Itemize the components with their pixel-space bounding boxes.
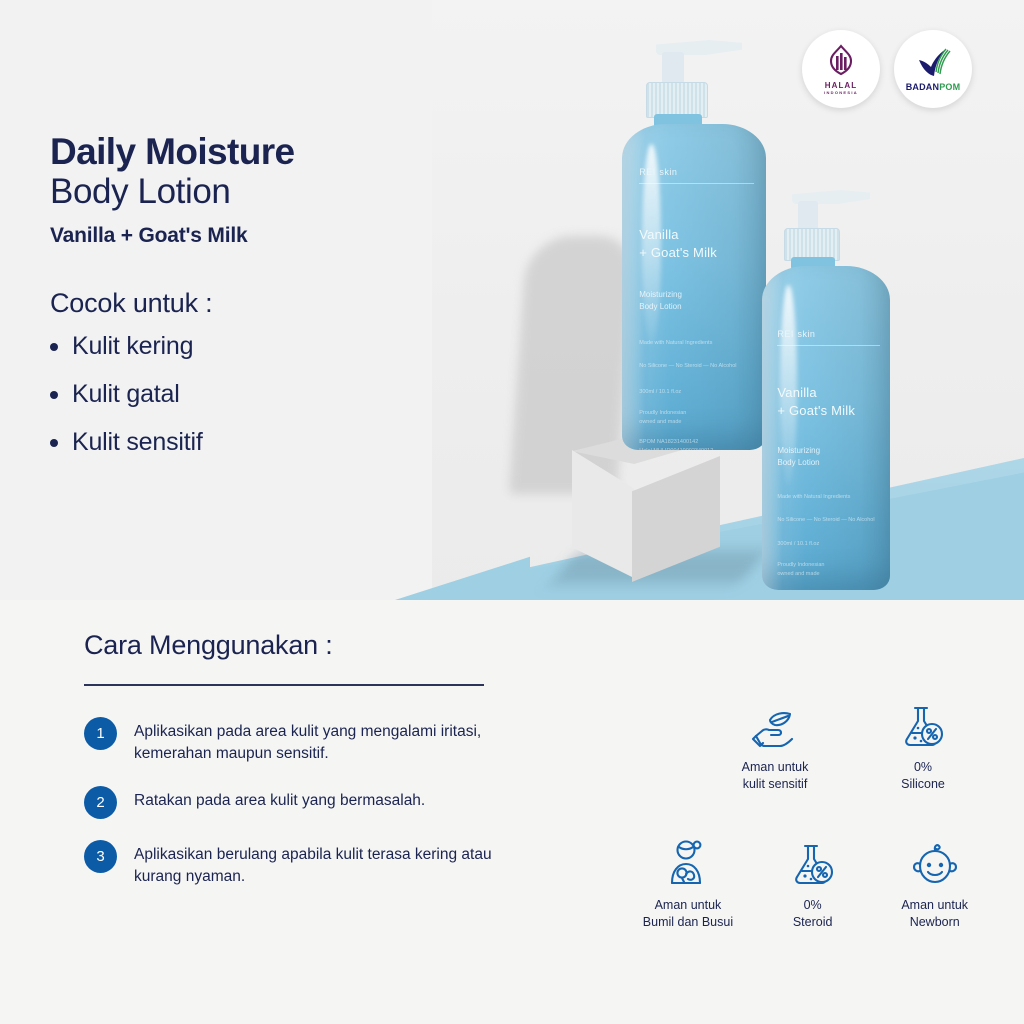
bottle-body-small: REI skin Vanilla + Goat's Milk Moisturiz… <box>762 266 890 590</box>
bottle-descriptor-small: Moisturizing Body Lotion <box>777 445 879 469</box>
feature-label: Aman untuk Bumil dan Busui <box>643 897 733 930</box>
claim2-text: No Silicone — No Steroid — No Alcohol <box>639 362 754 371</box>
bullet-dot-icon <box>50 439 58 447</box>
list-item: Kulit sensitif <box>50 428 470 457</box>
feature-zero-silicone: 0% Silicone <box>868 696 978 792</box>
list-item: 2 Ratakan pada area kulit yang bermasala… <box>84 786 504 819</box>
step-number-badge: 2 <box>84 786 117 819</box>
volume-text-small: 300ml / 10.1 fl.oz <box>777 540 879 549</box>
feature-row-2: Aman untuk Bumil dan Busui <box>600 834 1000 930</box>
product-variant: Vanilla + Goat's Milk <box>50 224 470 248</box>
feature-label: 0% Silicone <box>901 759 945 792</box>
feature-safe-newborn: Aman untuk Newborn <box>869 834 1000 930</box>
certification-badges: HALAL INDONESIA BADANPOM <box>802 30 972 108</box>
pedestal-front-face <box>572 450 634 578</box>
suitable-for-list: Kulit kering Kulit gatal Kulit sensitif <box>50 332 470 457</box>
descriptor-line-1-small: Moisturizing <box>777 445 879 457</box>
step-number-badge: 1 <box>84 717 117 750</box>
bottle-brand-large: REI skin <box>639 166 754 178</box>
hero-copy: Daily Moisture Body Lotion Vanilla + Goa… <box>50 132 470 476</box>
bottle-brand-name-small: REI <box>777 329 794 339</box>
step-text: Aplikasikan berulang apabila kulit teras… <box>134 840 504 888</box>
steps-list: 1 Aplikasikan pada area kulit yang menga… <box>84 717 504 888</box>
list-item: Kulit kering <box>50 332 470 361</box>
section-divider <box>84 684 484 686</box>
legal-line-2: Halal MUI ID00410002340012 <box>639 447 754 450</box>
descriptor-line-2: Body Lotion <box>639 301 754 313</box>
variant-line-2-small: + Goat's Milk <box>777 402 879 420</box>
product-title-line2: Body Lotion <box>50 172 470 211</box>
product-bottle-large: REI skin Vanilla + Goat's Milk Moisturiz… <box>622 40 766 450</box>
label-hairline <box>639 183 754 184</box>
how-to-use-block: Cara Menggunakan : 1 Aplikasikan pada ar… <box>84 630 504 909</box>
badan-pom-line1: BADAN <box>906 82 940 92</box>
bottle-volume-large: 300ml / 10.1 fl.oz <box>639 388 754 397</box>
bottle-claim2-small: No Silicone — No Steroid — No Alcohol <box>777 516 879 525</box>
step-number-badge: 3 <box>84 840 117 873</box>
instructions-section: Cara Menggunakan : 1 Aplikasikan pada ar… <box>0 600 1024 1024</box>
suitable-item-label: Kulit gatal <box>72 380 180 409</box>
feature-row-1: Aman untuk kulit sensitif <box>600 696 1000 792</box>
halal-logo-icon <box>823 43 859 79</box>
variant-line-2: + Goat's Milk <box>639 244 754 262</box>
bottle-brand-name: REI <box>639 167 656 177</box>
origin-line-1-small: Proudly Indonesian <box>777 561 879 570</box>
volume-text: 300ml / 10.1 fl.oz <box>639 388 754 397</box>
feature-label: Aman untuk kulit sensitif <box>742 759 809 792</box>
variant-line-1-small: Vanilla <box>777 384 879 402</box>
product-title-line1: Daily Moisture <box>50 132 470 171</box>
descriptor-line-2-small: Body Lotion <box>777 457 879 469</box>
origin-line-2: owned and made <box>639 418 754 427</box>
bottle-label-small: REI skin Vanilla + Goat's Milk Moisturiz… <box>777 328 879 590</box>
pedestal-side-face <box>632 456 720 582</box>
pump-stem-large <box>662 52 684 86</box>
baby-face-icon <box>909 834 961 888</box>
bottle-descriptor-large: Moisturizing Body Lotion <box>639 289 754 313</box>
descriptor-line-1: Moisturizing <box>639 289 754 301</box>
list-item: 1 Aplikasikan pada area kulit yang menga… <box>84 717 504 765</box>
product-advertisement: REI skin Vanilla + Goat's Milk Moisturiz… <box>0 0 1024 1024</box>
bottle-claim-large: Made with Natural Ingredients <box>639 339 754 348</box>
mother-baby-icon <box>665 834 711 888</box>
claim-text-small: Made with Natural Ingredients <box>777 493 879 502</box>
flask-percent-icon <box>791 834 835 888</box>
bullet-dot-icon <box>50 391 58 399</box>
badan-pom-badge: BADANPOM <box>894 30 972 108</box>
step-text: Aplikasikan pada area kulit yang mengala… <box>134 717 504 765</box>
suitable-item-label: Kulit sensitif <box>72 428 203 457</box>
suitable-for-heading: Cocok untuk : <box>50 288 470 319</box>
how-to-use-title: Cara Menggunakan : <box>84 630 504 661</box>
bullet-dot-icon <box>50 343 58 351</box>
suitable-item-label: Kulit kering <box>72 332 193 361</box>
feature-label: 0% Steroid <box>793 897 833 930</box>
halal-indonesia-badge: HALAL INDONESIA <box>802 30 880 108</box>
legal-line-1: BPOM NA18231400142 <box>639 438 754 447</box>
bottle-legal-large: BPOM NA18231400142 Halal MUI ID004100023… <box>639 438 754 450</box>
hero-section: REI skin Vanilla + Goat's Milk Moisturiz… <box>0 0 1024 600</box>
bottle-variant-large: Vanilla + Goat's Milk <box>639 226 754 261</box>
badan-pom-logo-icon <box>913 46 953 80</box>
feature-icons-grid: Aman untuk kulit sensitif <box>600 696 1000 930</box>
hand-leaf-icon <box>750 696 800 750</box>
product-bottle-small: REI skin Vanilla + Goat's Milk Moisturiz… <box>762 190 890 590</box>
feature-safe-sensitive-skin: Aman untuk kulit sensitif <box>700 696 850 792</box>
bottle-claim2-large: No Silicone — No Steroid — No Alcohol <box>639 362 754 371</box>
feature-label: Aman untuk Newborn <box>901 897 968 930</box>
badan-pom-line2: POM <box>939 82 960 92</box>
origin-line-1: Proudly Indonesian <box>639 409 754 418</box>
list-item: 3 Aplikasikan berulang apabila kulit ter… <box>84 840 504 888</box>
list-item: Kulit gatal <box>50 380 470 409</box>
bottle-brand-suffix-small: skin <box>797 329 815 339</box>
pump-collar-large <box>646 82 708 118</box>
halal-badge-line2: INDONESIA <box>824 90 858 95</box>
feature-safe-pregnant-nursing: Aman untuk Bumil dan Busui <box>618 834 758 930</box>
claim-text: Made with Natural Ingredients <box>639 339 754 348</box>
origin-line-2-small: owned and made <box>777 570 879 579</box>
step-text: Ratakan pada area kulit yang bermasalah. <box>134 786 425 819</box>
bottle-origin-large: Proudly Indonesian owned and made <box>639 409 754 428</box>
feature-zero-steroid: 0% Steroid <box>768 834 858 930</box>
bottle-brand-suffix: skin <box>659 167 677 177</box>
bottle-volume-small: 300ml / 10.1 fl.oz <box>777 540 879 549</box>
bottle-claim-small: Made with Natural Ingredients <box>777 493 879 502</box>
pedestal-cube <box>572 430 720 578</box>
variant-line-1: Vanilla <box>639 226 754 244</box>
flask-percent-icon <box>901 696 945 750</box>
bottle-origin-small: Proudly Indonesian owned and made <box>777 561 879 580</box>
halal-badge-line1: HALAL <box>825 81 858 90</box>
claim2-text-small: No Silicone — No Steroid — No Alcohol <box>777 516 879 525</box>
bottle-variant-small: Vanilla + Goat's Milk <box>777 384 879 419</box>
badan-pom-wordmark: BADANPOM <box>906 82 961 92</box>
label-hairline-small <box>777 345 879 346</box>
bottle-body-large: REI skin Vanilla + Goat's Milk Moisturiz… <box>622 124 766 450</box>
bottle-label-large: REI skin Vanilla + Goat's Milk Moisturiz… <box>639 166 754 450</box>
bottle-brand-small: REI skin <box>777 328 879 340</box>
